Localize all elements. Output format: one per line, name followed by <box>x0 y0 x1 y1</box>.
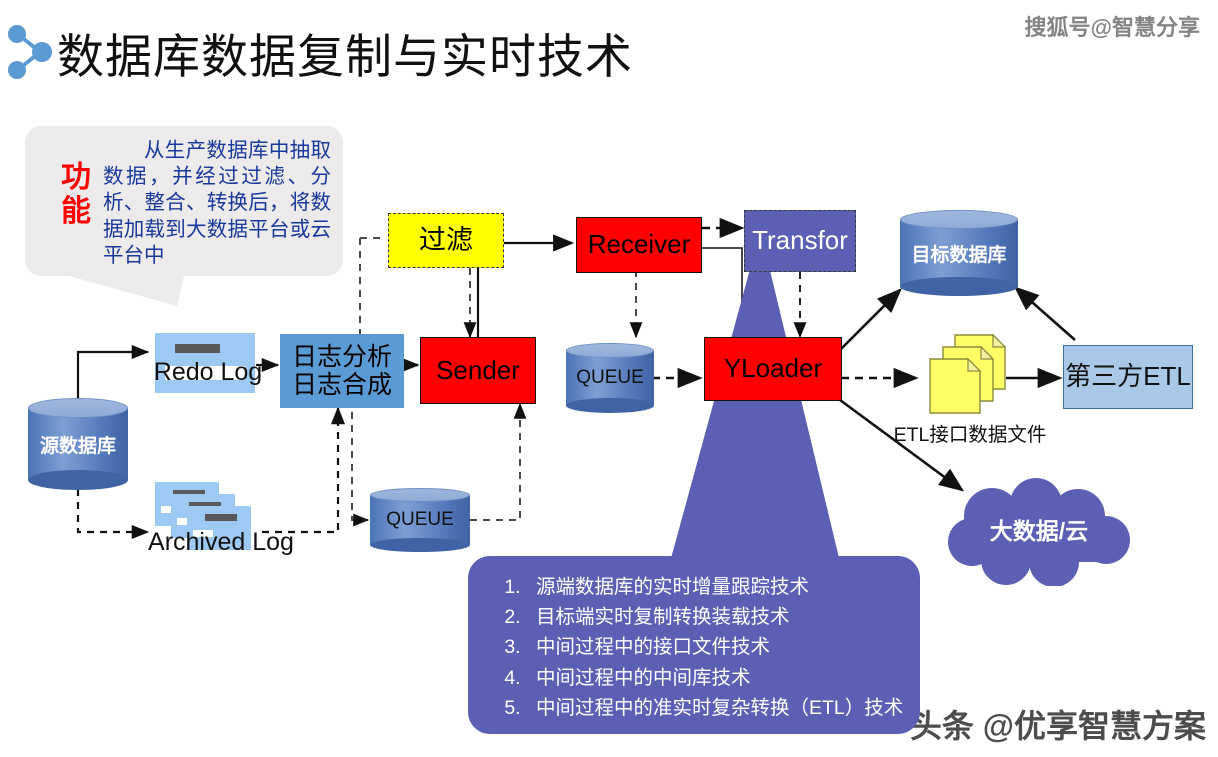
function-label: 功能 <box>53 161 99 228</box>
queue-lower-label: QUEUE <box>370 488 470 552</box>
target-database-label: 目标数据库 <box>900 210 1018 296</box>
list-callout-tail <box>640 262 970 562</box>
source-database-label: 源数据库 <box>28 398 128 490</box>
link-thirdparty-targetdb <box>1016 288 1075 340</box>
link-sourcedb-redolog <box>78 352 148 398</box>
third-party-etl-box: 第三方ETL <box>1063 345 1193 409</box>
log-analysis-label: 日志分析 <box>292 343 392 371</box>
list-item: 中间过程中的中间库技术 <box>526 663 920 693</box>
slide-canvas: 数据库数据复制与实时技术 搜狐号@智慧分享 头条 @优享智慧方案 <box>0 0 1218 757</box>
big-data-cloud-label: 大数据/云 <box>944 512 1134 546</box>
list-item: 中间过程中的接口文件技术 <box>526 632 920 662</box>
function-text: 从生产数据库中抽取数据，并经过过滤、分析、整合、转换后，将数据加载到大数据平台或… <box>103 138 331 269</box>
log-merge-label: 日志合成 <box>292 371 392 399</box>
link-loganalyze-lowerqueue <box>352 412 368 520</box>
third-party-etl-label: 第三方ETL <box>1064 346 1192 408</box>
filter-box: 过滤 <box>388 213 504 268</box>
tech-list-callout: 源端数据库的实时增量跟踪技术 目标端实时复制转换装载技术 中间过程中的接口文件技… <box>468 556 920 734</box>
source-database: 源数据库 <box>28 398 128 490</box>
transfor-box: Transfor <box>744 210 856 272</box>
yloader-label: YLoader <box>705 338 841 400</box>
queue-upper: QUEUE <box>566 343 654 413</box>
link-lowerqueue-sender <box>470 404 520 520</box>
callout-tail <box>55 272 185 306</box>
queue-upper-label: QUEUE <box>566 343 654 413</box>
target-database: 目标数据库 <box>900 210 1018 296</box>
redo-log-label: Redo Log <box>148 358 268 387</box>
archived-log-label: Archived Log <box>137 528 305 557</box>
sender-box: Sender <box>420 337 536 404</box>
list-item: 中间过程中的准实时复杂转换（ETL）技术 <box>526 693 920 723</box>
list-item: 目标端实时复制转换装载技术 <box>526 602 920 632</box>
filter-label: 过滤 <box>389 214 503 267</box>
link-archivedlog-loganalyze <box>262 408 338 532</box>
function-callout: 功能 从生产数据库中抽取数据，并经过过滤、分析、整合、转换后，将数据加载到大数据… <box>25 126 343 276</box>
transfor-label: Transfor <box>745 211 855 271</box>
list-item: 源端数据库的实时增量跟踪技术 <box>526 572 920 602</box>
log-analysis-box: 日志分析 日志合成 <box>280 334 404 408</box>
sender-label: Sender <box>421 338 535 403</box>
link-sourcedb-archivedlog <box>78 489 148 532</box>
queue-lower: QUEUE <box>370 488 470 552</box>
yloader-box: YLoader <box>704 337 842 401</box>
tech-list: 源端数据库的实时增量跟踪技术 目标端实时复制转换装载技术 中间过程中的接口文件技… <box>468 556 920 723</box>
